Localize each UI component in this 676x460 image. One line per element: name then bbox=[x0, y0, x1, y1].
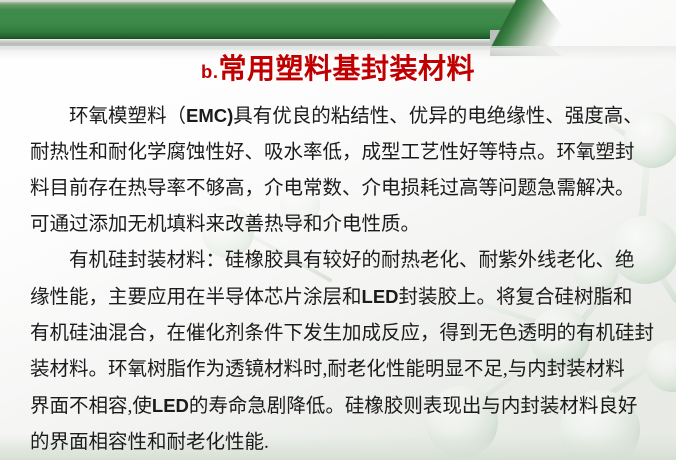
cjk-run: 有机硅封装材料：硅橡胶具有较好的耐热老化、耐紫外线老化、绝 bbox=[69, 250, 635, 271]
latin-run: LED bbox=[362, 286, 399, 307]
title-prefix: b. bbox=[201, 61, 218, 82]
cjk-run: 封装胶上。将复合硅树脂和 bbox=[399, 287, 633, 308]
slide-canvas: b.常用塑料基封装材料 环氧模塑料（EMC)具有优良的粘结性、优异的电绝缘性、强… bbox=[0, 0, 676, 460]
text-line: 耐热性和耐化学腐蚀性好、吸水率低，成型工艺性好等特点。环氧塑封 bbox=[30, 135, 646, 171]
slide-title: b.常用塑料基封装材料 bbox=[0, 47, 676, 87]
cjk-run: 界面不相容,使 bbox=[30, 396, 152, 417]
banner-green-bar bbox=[0, 2, 514, 39]
text-line: 装材料。环氧树脂作为透镜材料时,耐老化性能明显不足,与内封装材料 bbox=[30, 352, 646, 388]
cjk-run: 的界面相容性和耐老化性能. bbox=[30, 432, 269, 453]
text-line: 可通过添加无机填料来改善热导和介电性质。 bbox=[30, 207, 646, 243]
paragraph-emc: 环氧模塑料（EMC)具有优良的粘结性、优异的电绝缘性、强度高、耐热性和耐化学腐蚀… bbox=[30, 98, 646, 243]
cjk-run: 耐热性和耐化学腐蚀性好、吸水率低，成型工艺性好等特点。环氧塑封 bbox=[30, 142, 635, 163]
text-line: 缘性能，主要应用在半导体芯片涂层和LED封装胶上。将复合硅树脂和 bbox=[30, 279, 646, 316]
text-line: 料目前存在热导率不够高，介电常数、介电损耗过高等问题急需解决。 bbox=[30, 171, 646, 207]
slide-body: 环氧模塑料（EMC)具有优良的粘结性、优异的电绝缘性、强度高、耐热性和耐化学腐蚀… bbox=[30, 98, 646, 460]
paragraph-silicone: 有机硅封装材料：硅橡胶具有较好的耐热老化、耐紫外线老化、绝缘性能，主要应用在半导… bbox=[30, 243, 646, 460]
cjk-run: 具有优良的粘结性、优异的电绝缘性、强度高、 bbox=[233, 106, 643, 127]
cjk-run: 环氧模塑料（ bbox=[69, 106, 186, 127]
latin-run: EMC) bbox=[186, 105, 233, 126]
text-line: 的界面相容性和耐老化性能. bbox=[30, 425, 646, 460]
cjk-run: 的寿命急剧降低。硅橡胶则表现出与内封装材料良好 bbox=[189, 396, 638, 417]
text-line: 环氧模塑料（EMC)具有优良的粘结性、优异的电绝缘性、强度高、 bbox=[30, 98, 646, 135]
cjk-run: 有机硅油混合，在催化剂条件下发生加成反应，得到无色透明的有机硅封 bbox=[30, 323, 654, 344]
latin-run: LED bbox=[152, 395, 189, 416]
banner-diagonal-cut bbox=[460, 0, 580, 48]
cjk-run: 可通过添加无机填料来改善热导和介电性质。 bbox=[30, 214, 420, 235]
text-line: 有机硅油混合，在催化剂条件下发生加成反应，得到无色透明的有机硅封 bbox=[30, 316, 646, 352]
cjk-run: 缘性能，主要应用在半导体芯片涂层和 bbox=[30, 287, 362, 308]
text-line: 有机硅封装材料：硅橡胶具有较好的耐热老化、耐紫外线老化、绝 bbox=[30, 243, 646, 279]
text-line: 界面不相容,使LED的寿命急剧降低。硅橡胶则表现出与内封装材料良好 bbox=[30, 388, 646, 425]
cjk-run: 料目前存在热导率不够高，介电常数、介电损耗过高等问题急需解决。 bbox=[30, 178, 635, 199]
title-text: 常用塑料基封装材料 bbox=[218, 54, 475, 85]
cjk-run: 装材料。环氧树脂作为透镜材料时,耐老化性能明显不足,与内封装材料 bbox=[30, 359, 625, 380]
